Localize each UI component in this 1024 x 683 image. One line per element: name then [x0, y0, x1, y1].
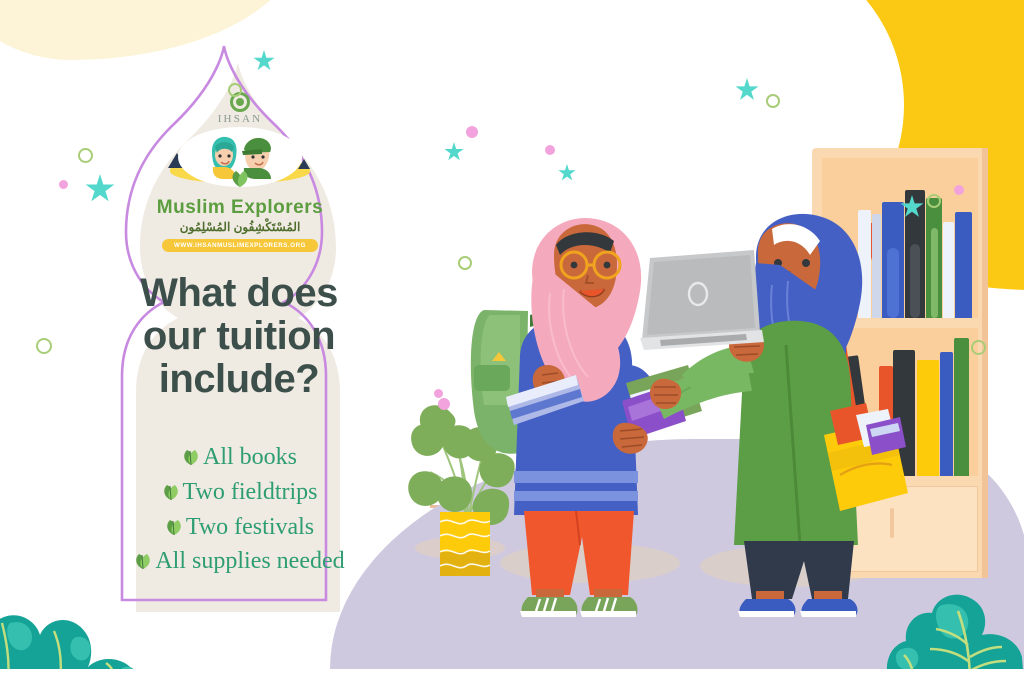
headline-line-1: What does	[96, 272, 382, 315]
brand-logo: IHSAN	[150, 92, 330, 242]
ring-decoration	[971, 340, 986, 355]
book	[917, 360, 939, 476]
dot-decoration	[434, 389, 443, 398]
laptop-illustration	[636, 248, 766, 368]
list-item-label: Two fieldtrips	[183, 479, 318, 505]
pants	[744, 541, 854, 599]
poster-canvas: IHSAN	[0, 0, 1024, 683]
headline-line-3: include?	[96, 358, 382, 401]
book	[940, 352, 953, 476]
benefits-list: All books Two fieldtrips Two festivals A…	[84, 440, 394, 579]
program-name-arabic: المُسْتَكْشِفُون المُسْلِمُون	[150, 220, 330, 234]
laptop	[636, 248, 766, 368]
book-detail	[931, 228, 938, 318]
ring-decoration	[766, 94, 780, 108]
dot-decoration	[545, 145, 555, 155]
website-url: WWW.IHSANMUSLIMEXPLORERS.ORG	[162, 239, 318, 252]
book	[954, 338, 969, 476]
bush-bottom-right	[884, 553, 1024, 683]
explorers-kids-badge	[154, 127, 326, 205]
program-name: Muslim Explorers	[150, 197, 330, 219]
list-item: All books	[84, 440, 394, 475]
bookshelf-side-panel	[982, 148, 988, 578]
book	[943, 222, 954, 318]
ring-decoration	[458, 256, 472, 270]
leaf-sprout-icon	[228, 165, 252, 191]
dot-decoration	[954, 185, 964, 195]
plant-flower	[438, 398, 450, 410]
bottom-white-strip	[0, 669, 1024, 683]
headline-line-2: our tuition	[96, 315, 382, 358]
ring-decoration	[36, 338, 52, 354]
star-decoration	[558, 164, 576, 182]
bush-left-illustration	[0, 563, 210, 683]
dot-decoration	[59, 180, 68, 189]
page-title: What does our tuition include?	[96, 272, 382, 400]
leaf-icon	[161, 483, 180, 502]
org-name: IHSAN	[150, 113, 330, 125]
list-item: Two festivals	[84, 510, 394, 545]
bush-bottom-left	[0, 563, 210, 683]
list-item-label: All books	[203, 444, 297, 470]
bush-right-illustration	[884, 553, 1024, 683]
book-detail	[910, 244, 920, 318]
ring-decoration	[78, 148, 93, 163]
star-decoration	[444, 142, 464, 162]
leaf-icon	[181, 448, 200, 467]
list-item-label: Two festivals	[186, 514, 314, 540]
leaf-icon	[164, 518, 183, 537]
ring-decoration	[927, 194, 941, 208]
book	[955, 212, 972, 318]
list-item: Two fieldtrips	[84, 475, 394, 510]
dot-decoration	[466, 126, 478, 138]
ring-decoration	[228, 83, 242, 97]
hand-left	[650, 379, 681, 409]
